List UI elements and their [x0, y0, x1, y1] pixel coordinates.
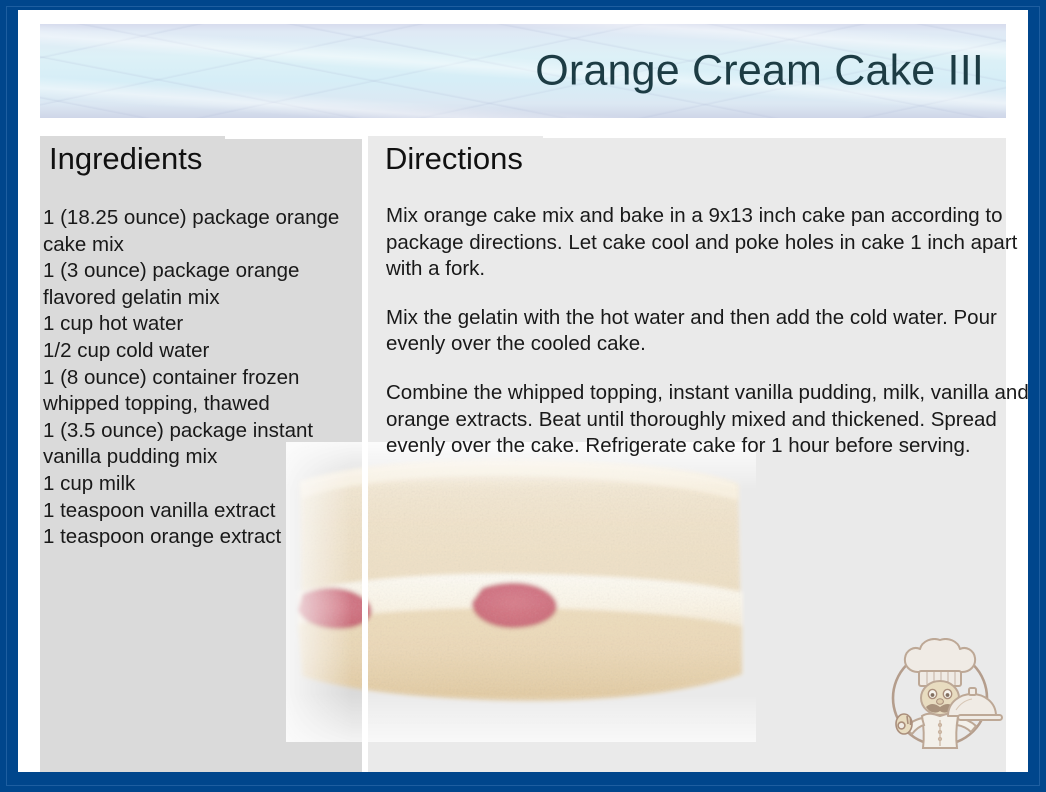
list-item: 1 (3 ounce) package orange flavored gela…	[43, 258, 359, 311]
ingredients-heading: Ingredients	[40, 143, 202, 174]
chef-logo-icon	[874, 628, 1006, 760]
list-item: 1 teaspoon vanilla extract	[43, 498, 359, 525]
list-item: 1 cup milk	[43, 471, 359, 498]
list-item: 1 (18.25 ounce) package orange cake mix	[43, 205, 359, 258]
ingredients-heading-tab: Ingredients	[40, 136, 225, 180]
list-item: 1 (3.5 ounce) package instant vanilla pu…	[43, 418, 359, 471]
direction-step: Mix the gelatin with the hot water and t…	[386, 305, 1028, 358]
list-item: 1 cup hot water	[43, 311, 359, 338]
direction-step: Mix orange cake mix and bake in a 9x13 i…	[386, 203, 1028, 283]
list-item: 1 teaspoon orange extract	[43, 524, 359, 551]
direction-step: Combine the whipped topping, instant van…	[386, 380, 1028, 460]
recipe-card: Orange Cream Cake III	[0, 0, 1046, 792]
list-item: 1 (8 ounce) container frozen whipped top…	[43, 365, 359, 418]
ingredients-tab-gap	[225, 136, 362, 139]
column-divider	[362, 138, 368, 772]
ingredients-list: 1 (18.25 ounce) package orange cake mix …	[43, 205, 359, 551]
directions-heading: Directions	[368, 143, 523, 174]
directions-steps: Mix orange cake mix and bake in a 9x13 i…	[386, 203, 1028, 460]
recipe-page: Orange Cream Cake III	[18, 10, 1028, 772]
page-title: Orange Cream Cake III	[535, 47, 984, 96]
directions-heading-tab: Directions	[368, 136, 543, 180]
list-item: 1/2 cup cold water	[43, 338, 359, 365]
header-banner: Orange Cream Cake III	[40, 24, 1006, 118]
